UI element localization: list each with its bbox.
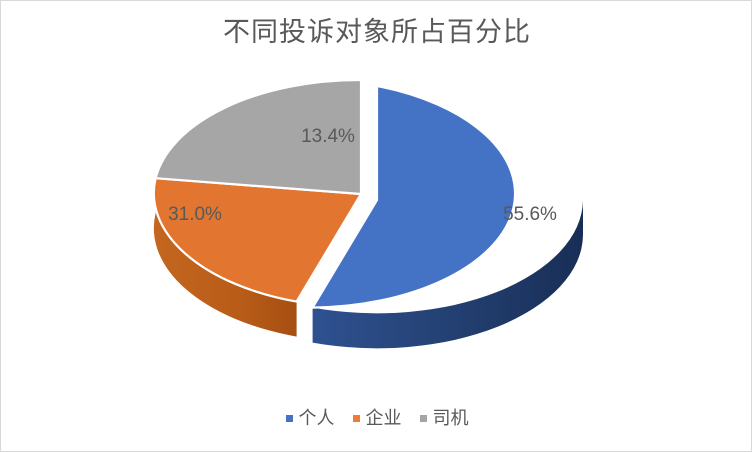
pie-chart-graphic[interactable]: 55.6% 31.0% 13.4% bbox=[1, 1, 752, 452]
legend-label-enterprise: 企业 bbox=[366, 407, 402, 429]
slice-label-individual: 55.6% bbox=[503, 204, 557, 225]
slice-label-driver: 13.4% bbox=[301, 126, 355, 147]
pie-chart-figure: 不同投诉对象所占百分比 bbox=[0, 0, 752, 452]
chart-legend: 个人 企业 司机 bbox=[1, 407, 752, 429]
slice-label-enterprise: 31.0% bbox=[168, 204, 222, 225]
legend-swatch-orange-icon bbox=[353, 415, 360, 422]
legend-label-individual: 个人 bbox=[299, 407, 335, 429]
legend-item-individual[interactable]: 个人 bbox=[286, 407, 335, 429]
legend-label-driver: 司机 bbox=[433, 407, 469, 429]
legend-item-driver[interactable]: 司机 bbox=[420, 407, 469, 429]
legend-swatch-blue-icon bbox=[286, 415, 293, 422]
legend-item-enterprise[interactable]: 企业 bbox=[353, 407, 402, 429]
legend-swatch-gray-icon bbox=[420, 415, 427, 422]
